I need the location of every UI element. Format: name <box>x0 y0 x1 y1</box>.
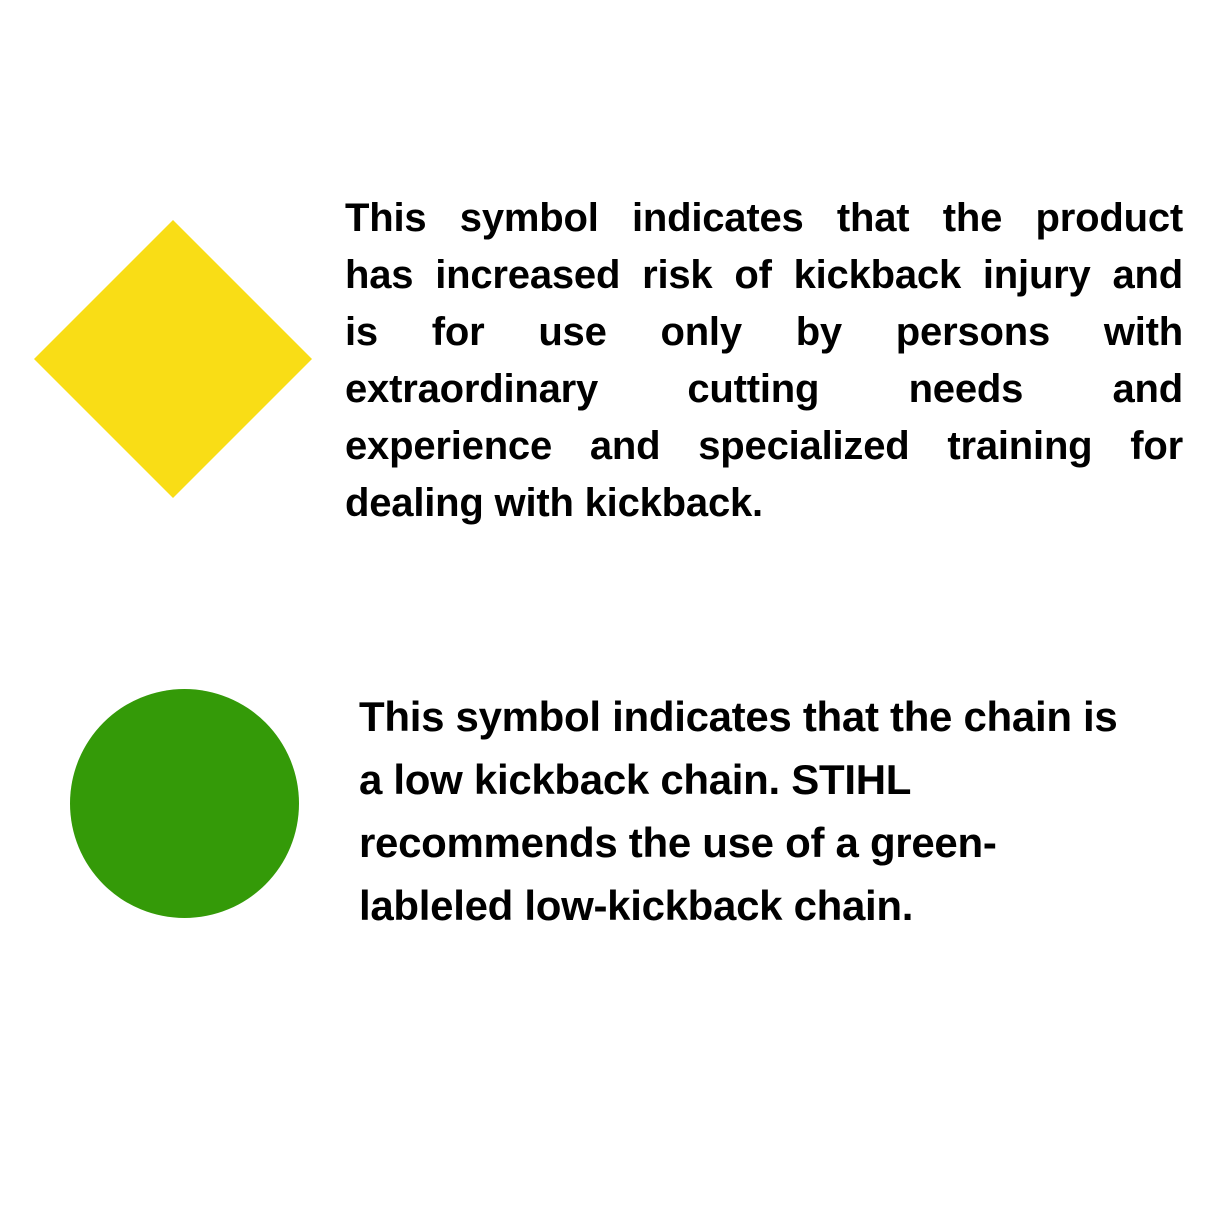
low-kickback-chain-text: This symbol indicates that the chain is … <box>359 685 1204 937</box>
notice-2-line-1: This symbol indicates that the chain is <box>359 685 1204 748</box>
circle-shape <box>70 689 299 918</box>
notice-1-line-1: This symbol indicates that the product <box>345 190 1183 247</box>
notice-2-line-3: recommends the use of a green- <box>359 811 1204 874</box>
diamond-shape <box>34 220 312 498</box>
notice-2-line-2: a low kickback chain. STIHL <box>359 748 1204 811</box>
yellow-diamond-icon <box>34 220 312 498</box>
page-root: This symbol indicates that the product h… <box>0 0 1214 1214</box>
notice-1-line-2: has increased risk of kickback injury an… <box>345 247 1183 304</box>
notice-1-line-5: experience and specialized training for <box>345 418 1183 475</box>
green-circle-symbol <box>70 689 299 918</box>
notice-1-line-3: is for use only by persons with <box>345 304 1183 361</box>
notice-2-line-4: lableled low-kickback chain. <box>359 874 1204 937</box>
notice-1-line-4: extraordinary cutting needs and <box>345 361 1183 418</box>
notice-1-line-6: dealing with kickback. <box>345 475 1183 532</box>
yellow-diamond-symbol <box>34 220 312 498</box>
kickback-warning-text: This symbol indicates that the product h… <box>345 190 1183 532</box>
green-circle-icon <box>70 689 299 918</box>
